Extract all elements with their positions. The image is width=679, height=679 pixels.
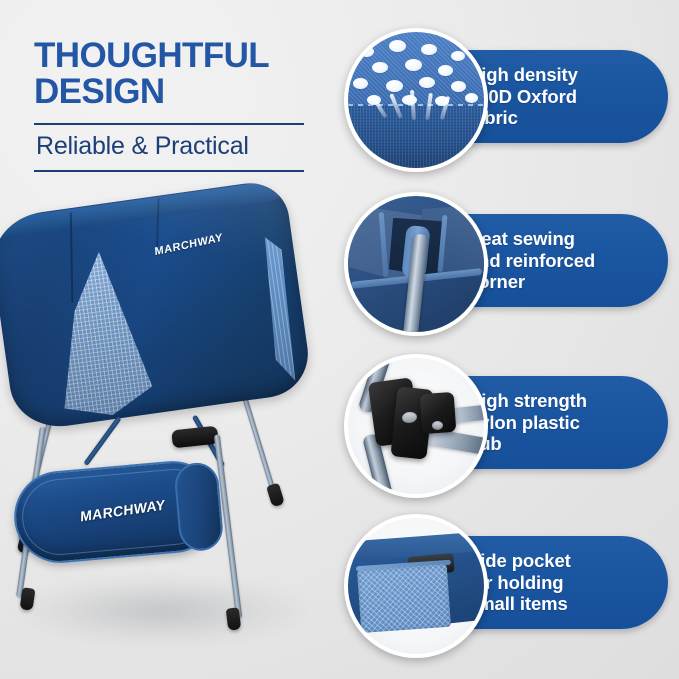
feature-row-hub: High strength nylon plastic hub: [344, 348, 679, 498]
water-bead: [389, 40, 406, 52]
divider-bottom: [34, 170, 304, 172]
mesh-pocket: [357, 564, 451, 633]
carry-bag: MARCHWAY: [10, 457, 222, 567]
feature-row-pocket: Side pocket for holding small items: [344, 508, 679, 658]
headline-line-1: THOUGHTFUL: [34, 38, 334, 74]
headline-line-2: DESIGN: [34, 74, 334, 110]
carry-bag-end-cap: [173, 461, 225, 552]
product-shadow: [12, 576, 312, 646]
chair-foot-front-right: [226, 607, 242, 630]
mesh-side-pocket-with-phone-photo: [344, 514, 488, 658]
infographic-canvas: THOUGHTFUL DESIGN Reliable & Practical M…: [0, 0, 679, 679]
chair-cross-bar-left: [83, 416, 121, 466]
headline-block: THOUGHTFUL DESIGN Reliable & Practical: [34, 38, 334, 172]
reinforced-corner-pole-pocket-photo: [344, 192, 488, 336]
seat-shading: [0, 178, 314, 433]
feature-row-fabric: High density 600D Oxford fabric: [344, 22, 679, 172]
water-bead: [438, 65, 453, 76]
seat-fabric: MARCHWAY: [0, 178, 314, 433]
oxford-fabric-water-beading-photo: [344, 28, 488, 172]
chair-foot-rear-right: [266, 483, 285, 508]
water-bead: [419, 77, 435, 88]
hub-rivet-side: [432, 421, 443, 430]
subtitle: Reliable & Practical: [36, 132, 334, 161]
chair-seat: MARCHWAY: [0, 178, 314, 433]
water-bead: [359, 46, 374, 57]
nylon-plastic-hub-photo: [344, 354, 488, 498]
fabric-lower-weave: [348, 105, 484, 168]
product-photo: MARCHWAY MARCHWAY: [0, 176, 342, 671]
divider-top: [34, 123, 304, 125]
fabric-stitch-line: [348, 104, 484, 106]
water-bead: [386, 80, 403, 92]
feature-row-sewing: Neat sewing and reinforced corner: [344, 186, 679, 336]
